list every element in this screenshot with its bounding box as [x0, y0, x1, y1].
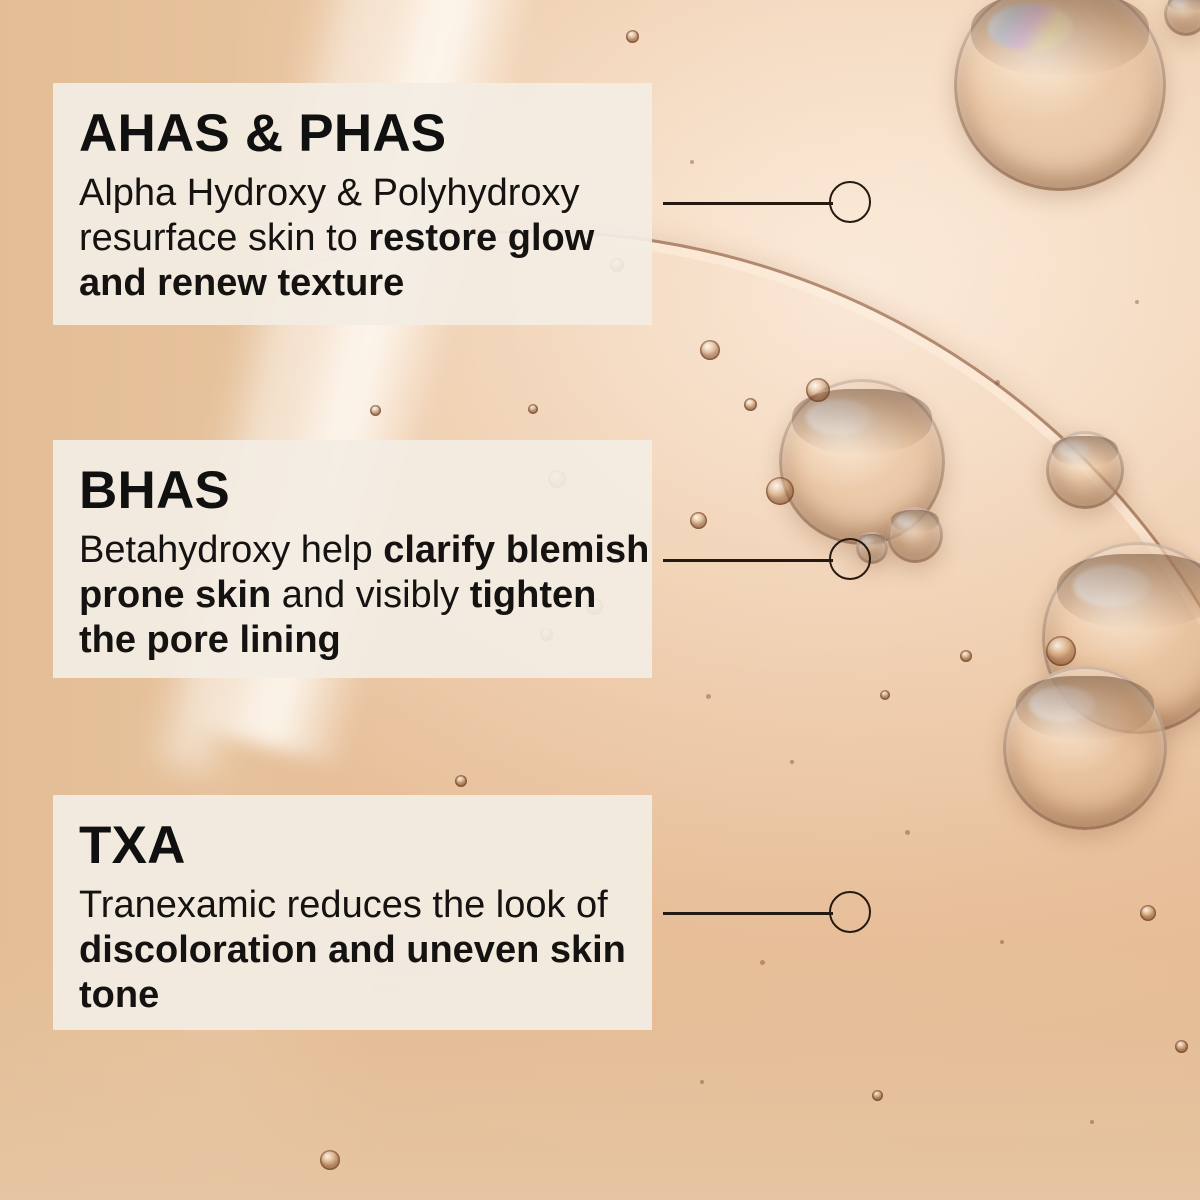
speck-5 [760, 960, 765, 965]
connector-bhas [663, 538, 871, 582]
speck-2 [790, 760, 794, 764]
speck-1 [706, 694, 711, 699]
micro-bubble-5 [880, 690, 890, 700]
card-heading-txa: TXA [53, 795, 652, 872]
speck-9 [1135, 300, 1139, 304]
ingredient-card-txa: TXA Tranexamic reduces the look of disco… [53, 795, 652, 1030]
micro-bubble-16 [455, 775, 467, 787]
card-heading-bhas: BHAS [53, 440, 652, 517]
small-droplet-center-right [1046, 431, 1124, 509]
micro-bubble-8 [872, 1090, 883, 1101]
speck-10 [690, 160, 694, 164]
connector-line [663, 912, 833, 915]
speck-4 [1000, 940, 1004, 944]
speck-8 [995, 380, 1000, 385]
speck-6 [1090, 1120, 1094, 1124]
card-body-bhas: Betahydroxy help clarify blemish prone s… [53, 517, 651, 662]
micro-bubble-7 [1175, 1040, 1188, 1053]
micro-bubble-9 [370, 405, 381, 416]
connector-ahas [663, 181, 871, 225]
speck-3 [905, 830, 910, 835]
connector-line [663, 559, 833, 562]
large-droplet-bottom-right-lower [1003, 666, 1167, 830]
ingredient-card-ahas: AHAS & PHAS Alpha Hydroxy & Polyhydroxy … [53, 83, 652, 325]
micro-bubble-12 [626, 30, 639, 43]
connector-line [663, 202, 833, 205]
card-body-txa: Tranexamic reduces the look of discolora… [53, 872, 639, 1017]
speck-7 [700, 1080, 704, 1084]
connector-txa [663, 891, 871, 935]
micro-droplet-between-large-pair [1046, 636, 1076, 666]
micro-bubble-3 [690, 512, 707, 529]
card-heading-ahas: AHAS & PHAS [53, 83, 652, 160]
ingredient-card-bhas: BHAS Betahydroxy help clarify blemish pr… [53, 440, 652, 678]
infographic-canvas: AHAS & PHAS Alpha Hydroxy & Polyhydroxy … [0, 0, 1200, 1200]
micro-bubble-1 [700, 340, 720, 360]
micro-bubble-2 [744, 398, 757, 411]
micro-bubble-17 [320, 1150, 340, 1170]
micro-droplet-cluster-top [806, 378, 830, 402]
micro-droplet-left-of-cluster [766, 477, 794, 505]
micro-bubble-10 [528, 404, 538, 414]
connector-circle-marker [829, 538, 871, 580]
card-body-ahas: Alpha Hydroxy & Polyhydroxy resurface sk… [53, 160, 639, 305]
satellite-droplet-lower [887, 507, 943, 563]
micro-bubble-4 [960, 650, 972, 662]
micro-bubble-6 [1140, 905, 1156, 921]
connector-circle-marker [829, 181, 871, 223]
connector-circle-marker [829, 891, 871, 933]
